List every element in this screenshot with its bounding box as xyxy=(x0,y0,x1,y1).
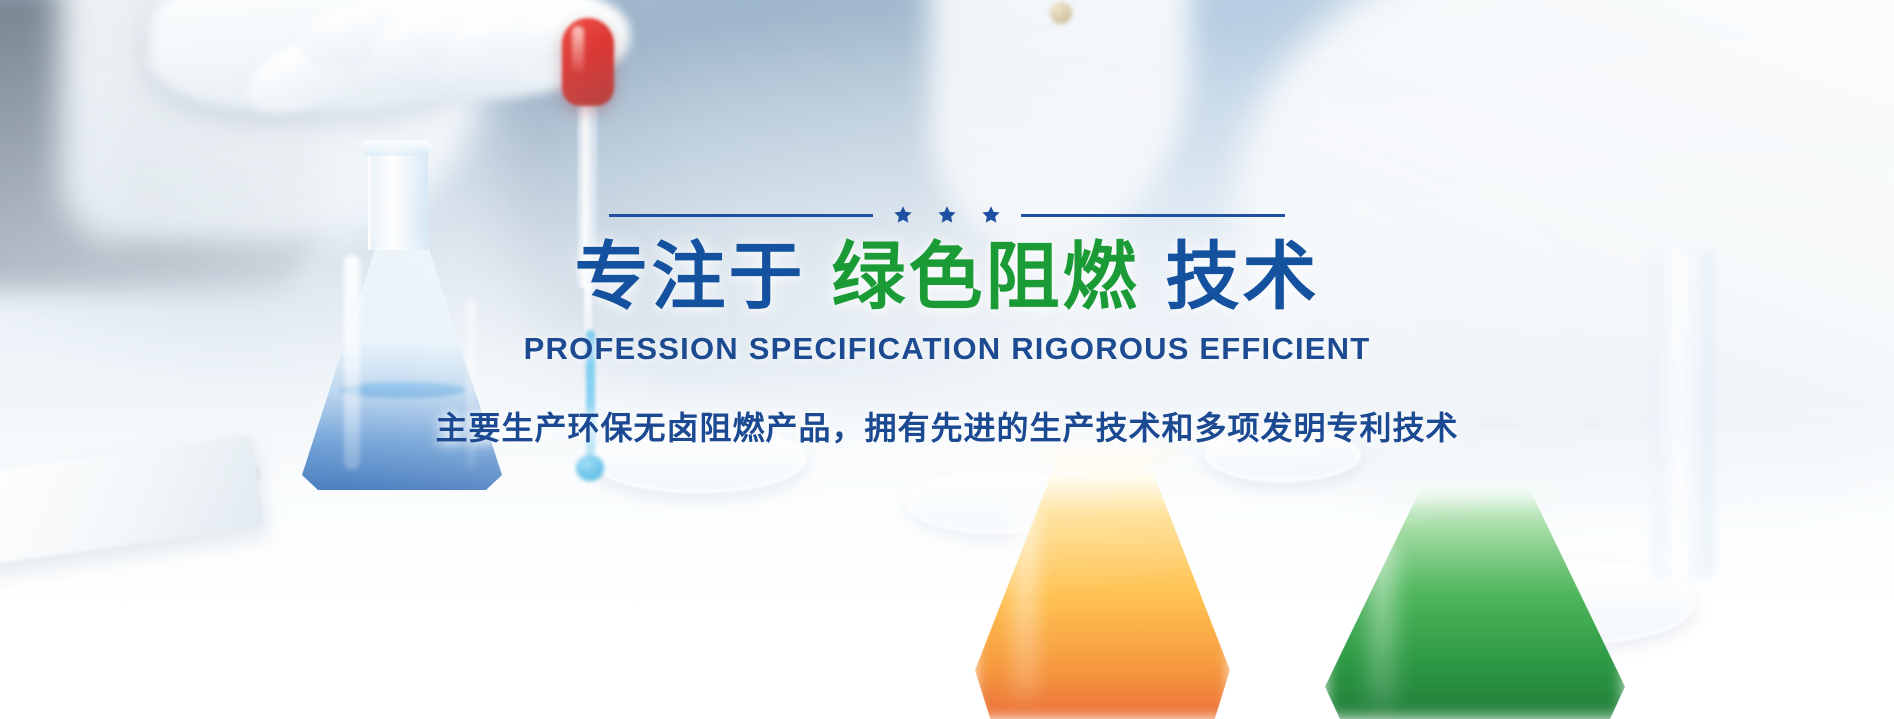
headline-part-1: 专注于 xyxy=(575,235,806,318)
divider-rule-right xyxy=(1021,214,1285,217)
headline-part-2: 绿色阻燃 xyxy=(832,235,1140,318)
banner-text-overlay: 专注于绿色阻燃技术 PROFESSION SPECIFICATION RIGOR… xyxy=(0,0,1894,719)
headline-part-3: 技术 xyxy=(1166,235,1320,318)
divider-rule-left xyxy=(609,214,873,217)
banner-divider xyxy=(609,205,1285,225)
star-icon xyxy=(937,205,957,225)
star-icon xyxy=(981,205,1001,225)
star-icon xyxy=(893,205,913,225)
star-group xyxy=(887,205,1007,225)
hero-banner: 专注于绿色阻燃技术 PROFESSION SPECIFICATION RIGOR… xyxy=(0,0,1894,719)
banner-subtitle-english: PROFESSION SPECIFICATION RIGOROUS EFFICI… xyxy=(524,331,1371,367)
banner-tagline-chinese: 主要生产环保无卤阻燃产品，拥有先进的生产技术和多项发明专利技术 xyxy=(435,403,1458,449)
page-title: 专注于绿色阻燃技术 xyxy=(575,237,1320,317)
